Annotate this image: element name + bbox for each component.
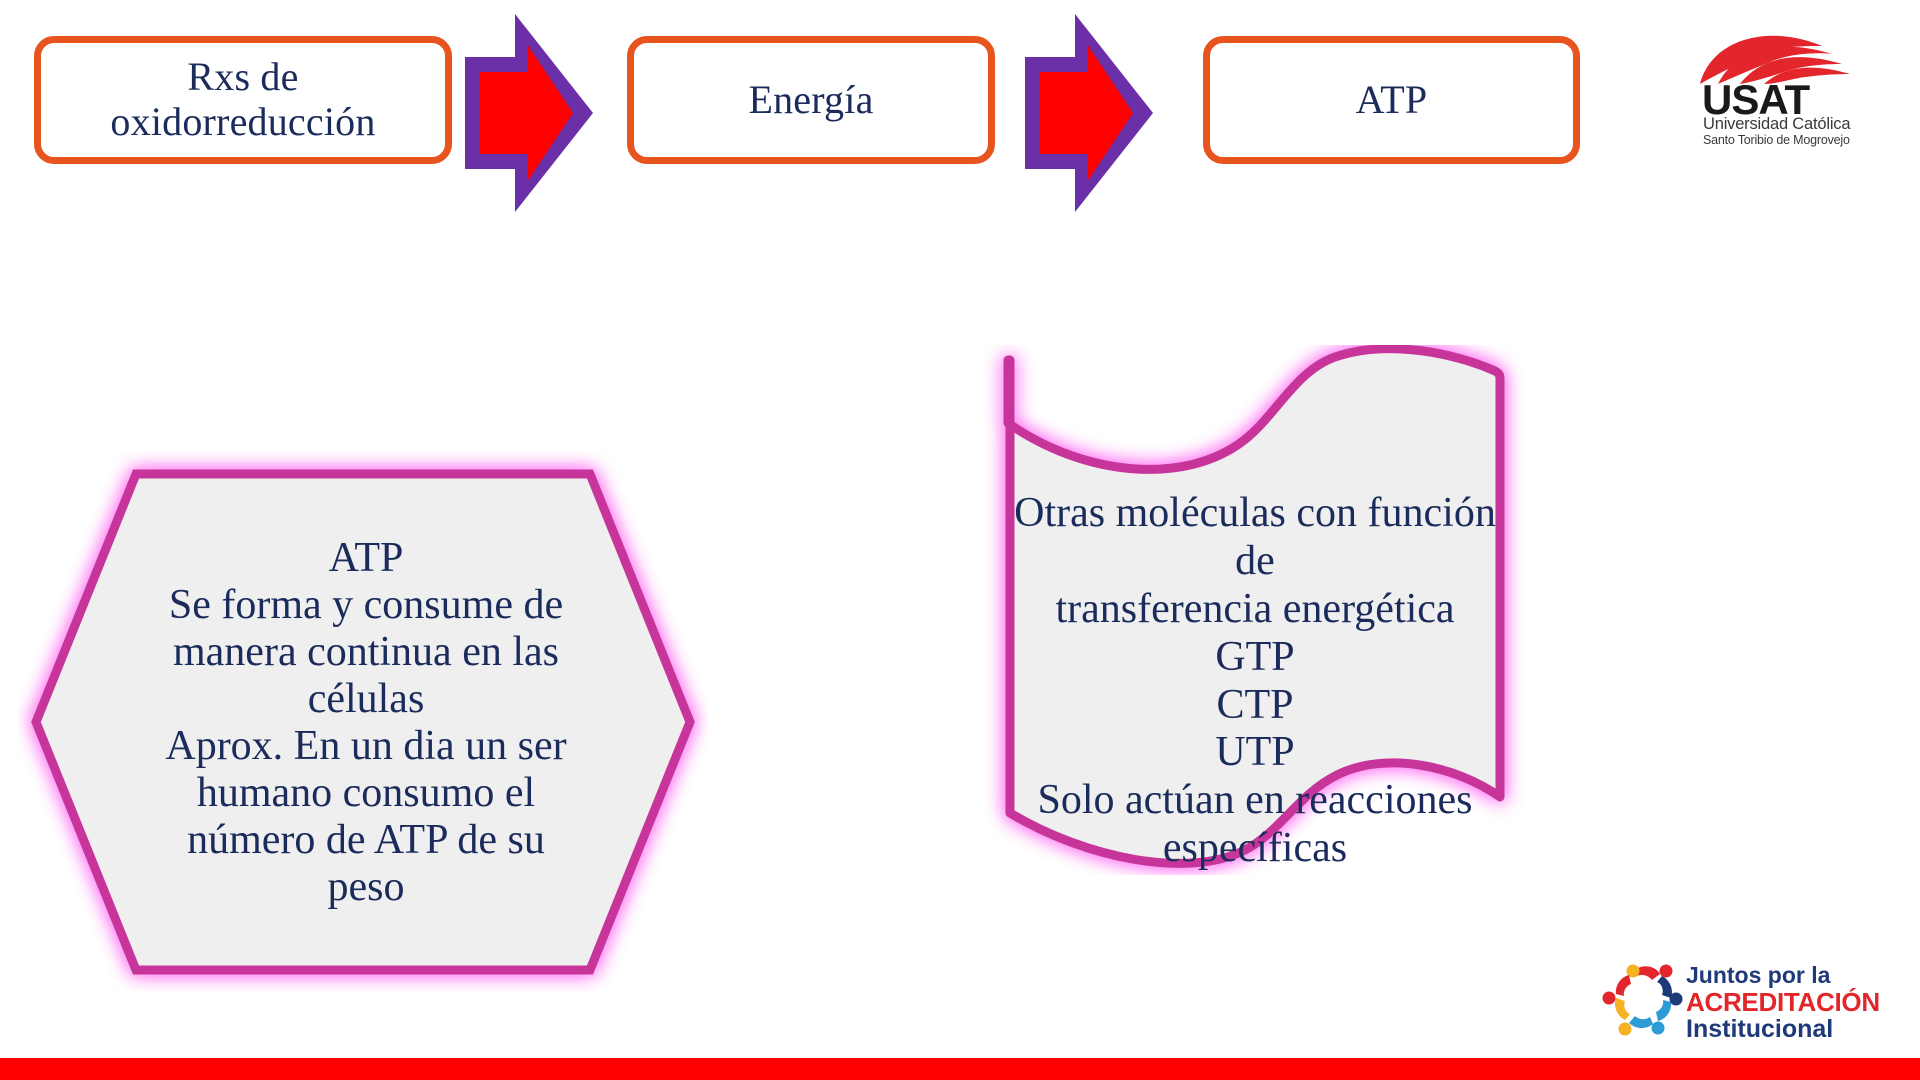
- acreditacion-line-3: Institucional: [1686, 1017, 1833, 1042]
- flag-callout: [975, 345, 1535, 875]
- acreditacion-line-1: Juntos por la: [1686, 964, 1830, 987]
- usat-logo: USAT Universidad Católica Santo Toribio …: [1690, 30, 1858, 148]
- flow-box-reacciones-line1: Rxs de: [100, 55, 385, 100]
- flow-box-reacciones-line2: oxidorreducción: [100, 100, 385, 145]
- right-arrow-icon-2: [1025, 0, 1155, 226]
- people-circle-icon: [1600, 962, 1684, 1042]
- flow-box-reacciones[interactable]: Rxs de oxidorreducción: [34, 36, 452, 164]
- slide-canvas: Rxs de oxidorreducción Energía ATP USAT …: [0, 0, 1920, 1080]
- flow-box-atp-label: ATP: [1346, 78, 1438, 123]
- acreditacion-line-2: ACREDITACIÓN: [1686, 989, 1880, 1015]
- usat-subtitle-2: Santo Toribio de Mogrovejo: [1703, 134, 1850, 147]
- flow-box-atp[interactable]: ATP: [1203, 36, 1580, 164]
- acreditacion-logo: Juntos por la ACREDITACIÓN Institucional: [1600, 958, 1862, 1046]
- right-arrow-icon-1: [465, 0, 595, 226]
- bottom-red-bar: [0, 1058, 1920, 1080]
- flow-box-energia[interactable]: Energía: [627, 36, 995, 164]
- flow-box-reacciones-label: Rxs de oxidorreducción: [90, 55, 395, 145]
- flow-box-energia-label: Energía: [738, 78, 883, 123]
- usat-subtitle-1: Universidad Católica: [1703, 116, 1850, 133]
- hexagon-callout: [18, 452, 708, 992]
